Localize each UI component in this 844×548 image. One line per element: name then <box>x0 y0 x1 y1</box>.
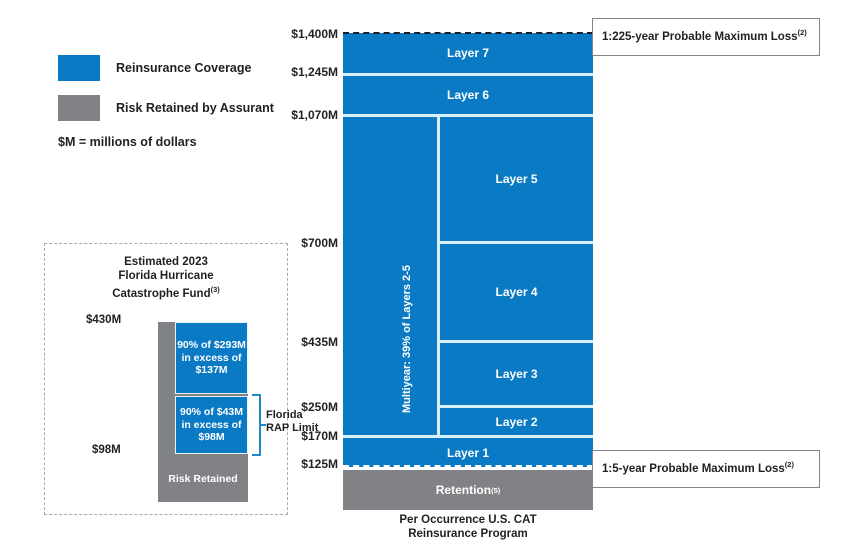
axis-label-170: $170M <box>301 429 338 443</box>
axis-label-250: $250M <box>301 400 338 414</box>
bar-multiyear-column: Multiyear: 39% of Layers 2-5 <box>343 117 437 435</box>
bar-layer-6: Layer 6 <box>343 76 593 114</box>
fhcf-title-line3: Catastrophe Fund <box>112 288 210 300</box>
retention-label: Retention <box>436 483 491 497</box>
legend-item-label: Risk Retained by Assurant <box>116 101 274 115</box>
callout-bottom-footnote: (2) <box>785 460 794 469</box>
callout-top-text: 1:225-year Probable Maximum Loss <box>602 31 798 43</box>
fhcf-axis-label-430: $430M <box>86 314 121 326</box>
fhcf-title: Estimated 2023 Florida Hurricane Catastr… <box>45 255 287 301</box>
fhcf-risk-retained-bar: Risk Retained <box>158 455 248 502</box>
axis-label-700: $700M <box>301 236 338 250</box>
bar-retention: Retention(5) <box>343 470 593 510</box>
fhcf-panel: Estimated 2023 Florida Hurricane Catastr… <box>44 243 288 515</box>
multiyear-label: Multiyear: 39% of Layers 2-5 <box>401 265 413 413</box>
axis-label-435: $435M <box>301 335 338 349</box>
bar-layer-2: Layer 2 <box>440 408 593 435</box>
callout-pml-225-year: 1:225-year Probable Maximum Loss(2) <box>592 18 820 56</box>
pml-225-year-marker <box>343 32 593 34</box>
risk-retained-swatch <box>58 95 100 121</box>
callout-bottom-text: 1:5-year Probable Maximum Loss <box>602 463 785 475</box>
pml-5-year-marker <box>343 465 593 467</box>
legend-note: $M = millions of dollars <box>58 135 274 149</box>
caption-line1: Per Occurrence U.S. CAT <box>399 514 536 526</box>
fhcf-title-line1: Estimated 2023 <box>124 256 208 268</box>
bar-layer-5: Layer 5 <box>440 117 593 241</box>
retention-footnote: (5) <box>491 486 500 495</box>
reinsurance-coverage-swatch <box>58 55 100 81</box>
fhcf-title-line2: Florida Hurricane <box>118 270 213 282</box>
fhcf-box-upper: 90% of $293M in excess of $137M <box>175 322 248 394</box>
legend: Reinsurance Coverage Risk Retained by As… <box>58 55 274 149</box>
caption-line2: Reinsurance Program <box>408 528 528 540</box>
bar-layer-3: Layer 3 <box>440 343 593 405</box>
fhcf-box-lower: 90% of $43M in excess of $98M <box>175 396 248 454</box>
legend-item-risk-retained: Risk Retained by Assurant <box>58 95 274 121</box>
axis-label-1070: $1,070M <box>291 108 338 122</box>
callout-top-footnote: (2) <box>798 28 807 37</box>
cat-program-caption: Per Occurrence U.S. CAT Reinsurance Prog… <box>343 513 593 541</box>
axis-label-1245: $1,245M <box>291 65 338 79</box>
bar-layer-4: Layer 4 <box>440 244 593 340</box>
axis-label-125: $125M <box>301 457 338 471</box>
fhcf-title-footnote: (3) <box>211 285 220 294</box>
cat-axis-labels: $1,400M $1,245M $1,070M $700M $435M $250… <box>276 0 338 548</box>
legend-item-reinsurance-coverage: Reinsurance Coverage <box>58 55 274 81</box>
bar-layer-7: Layer 7 <box>343 33 593 73</box>
bar-layer-1: Layer 1 <box>343 438 593 467</box>
axis-label-1400: $1,400M <box>291 27 338 41</box>
cat-program-diagram: Reinsurance Coverage Risk Retained by As… <box>0 0 844 548</box>
callout-pml-5-year: 1:5-year Probable Maximum Loss(2) <box>592 450 820 488</box>
legend-item-label: Reinsurance Coverage <box>116 61 251 75</box>
fhcf-axis-label-98: $98M <box>92 444 121 456</box>
